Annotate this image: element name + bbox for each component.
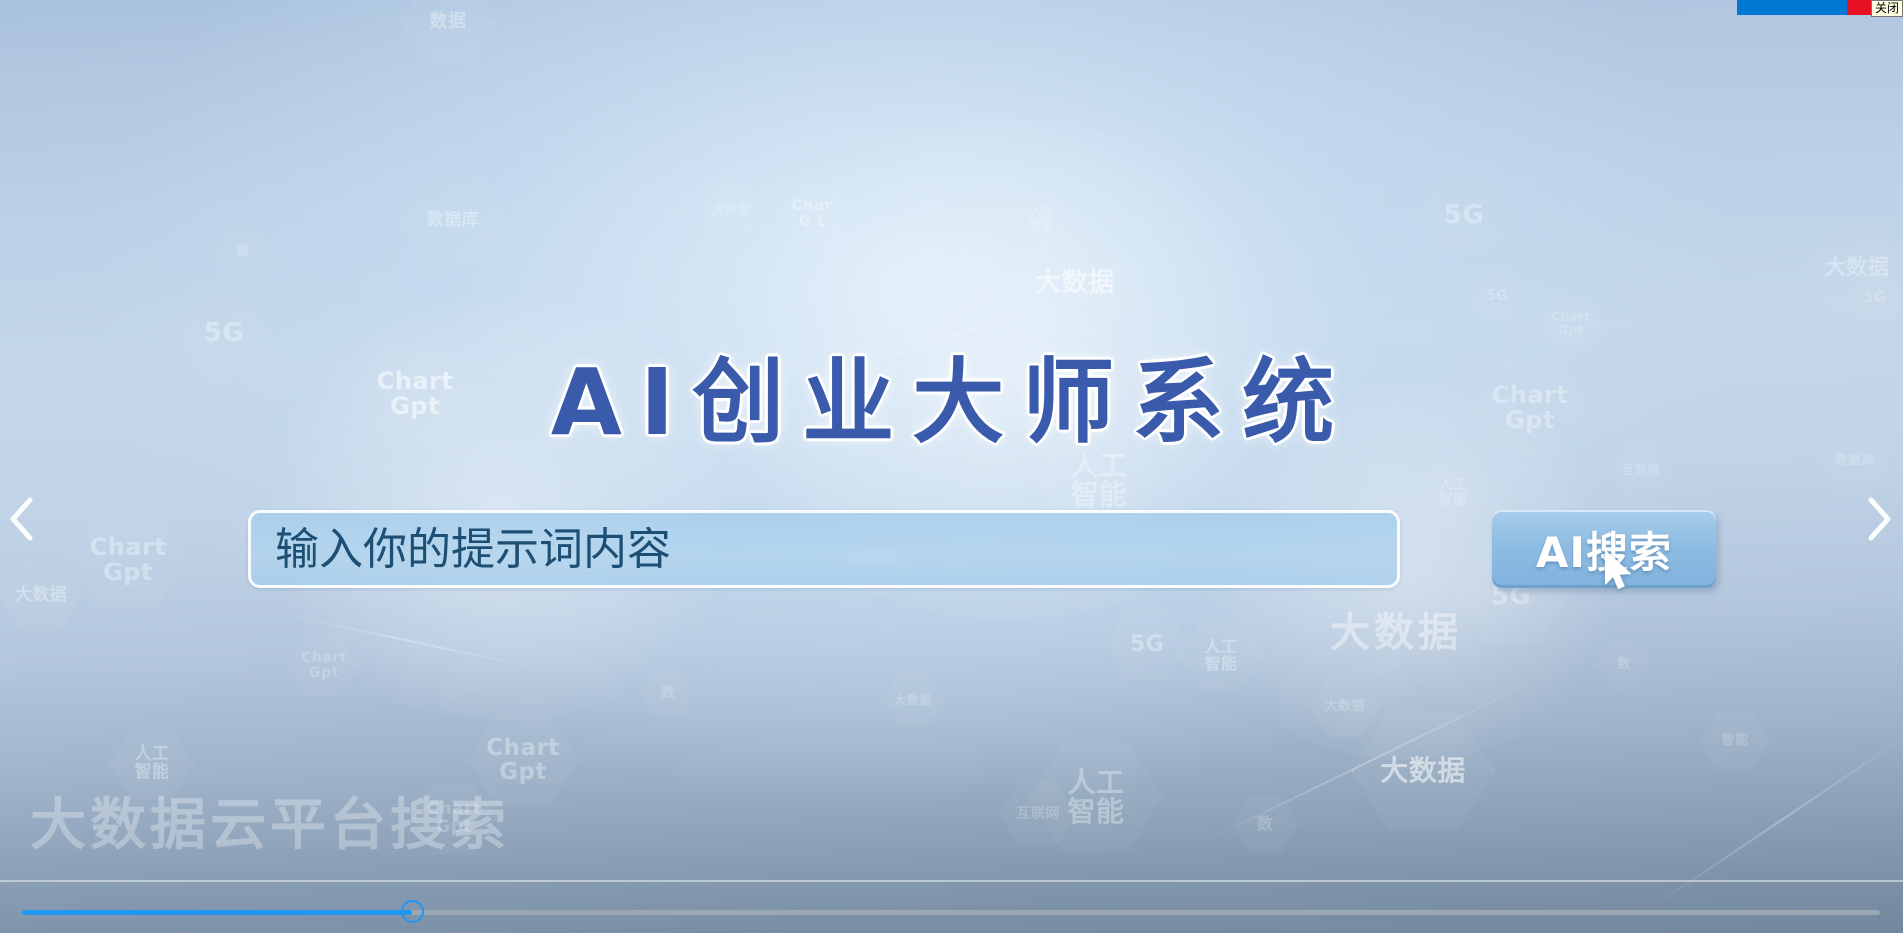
background-hexagon: 人工 智能 — [1180, 620, 1262, 692]
background-watermark: 大数据 — [1330, 600, 1462, 658]
close-tooltip: 关闭 — [1871, 0, 1903, 17]
background-hexagon: 大数据 — [700, 182, 762, 236]
background-hexagon: Chart Gpt — [412, 782, 496, 856]
background-hexagon: 人工 智能 — [1010, 190, 1074, 248]
background-streak — [1199, 677, 1541, 845]
background-hexagon: 数 — [1232, 795, 1298, 853]
background-hexagon: 大数据 — [882, 672, 944, 728]
background-hexagon: 大数据 — [1012, 230, 1138, 338]
background-hexagon: 智能 — [1700, 710, 1770, 772]
background-hexagon: 人工 智能 — [1416, 460, 1490, 526]
ai-search-button[interactable]: AI搜索 — [1492, 510, 1716, 588]
carousel-prev-button[interactable] — [0, 489, 44, 549]
background-hexagon: 互联网 — [1000, 780, 1076, 848]
background-streak — [283, 613, 538, 669]
window-titlebar-accent — [1737, 0, 1847, 15]
background-hexagon: 人工 智能 — [1030, 740, 1162, 854]
hexagon-background-layer: 数据库数5GChart GptChart Gpt大数据Chart Gpt人工 智… — [0, 0, 1903, 933]
close-button[interactable] — [1847, 0, 1871, 15]
ai-search-landing-page: 数据库数5GChart GptChart Gpt大数据Chart Gpt人工 智… — [0, 0, 1903, 933]
background-hexagon: 数 — [214, 226, 272, 278]
background-hexagon: 5G — [1105, 608, 1189, 682]
background-watermark: 大数据云平台搜索 — [30, 780, 510, 861]
background-hexagon: Chart Gpt — [468, 712, 578, 808]
background-hexagon: 大数据 — [1352, 710, 1494, 832]
chevron-right-icon — [1864, 495, 1894, 543]
carousel-next-button[interactable] — [1857, 489, 1901, 549]
background-hexagon: 人工 智能 — [110, 727, 194, 801]
slider-handle[interactable] — [401, 900, 424, 923]
slider-fill — [22, 910, 412, 915]
chevron-left-icon — [7, 495, 37, 543]
progress-slider[interactable] — [22, 908, 1880, 916]
background-hexagon: Char G t — [774, 180, 850, 248]
background-hexagon: Chart Gpt — [70, 510, 186, 610]
window-chrome-strip: 关闭 — [0, 0, 1903, 16]
background-hexagon: 5G — [1418, 176, 1510, 256]
background-hexagon: 数 — [640, 668, 696, 718]
search-input[interactable] — [248, 510, 1400, 588]
background-streak — [1647, 731, 1903, 911]
background-hexagon: 数据 — [400, 0, 496, 64]
background-hexagon: 大数据 — [1805, 222, 1903, 312]
background-hexagon: 5G — [1846, 272, 1903, 324]
background-hexagon: 大数据 — [1310, 676, 1380, 738]
background-hexagon: 5G — [1468, 270, 1526, 322]
background-hexagon: 大数据 — [0, 560, 82, 632]
page-title: AI创业大师系统 — [0, 328, 1903, 461]
background-hexagon: 数 — [1596, 640, 1652, 690]
background-hexagon: 数据库 — [400, 175, 506, 267]
background-hexagon: Chart Gpt — [288, 634, 360, 698]
bottom-divider — [0, 880, 1903, 882]
